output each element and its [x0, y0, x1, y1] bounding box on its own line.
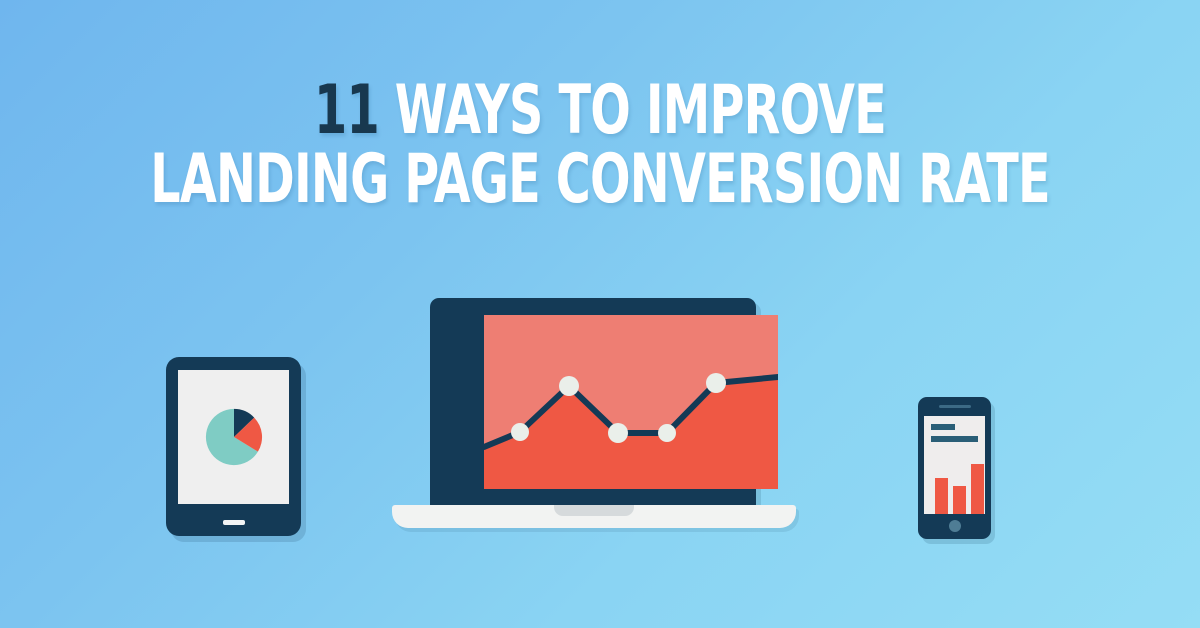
phone-speaker-icon [939, 405, 971, 408]
laptop-device [392, 298, 796, 530]
tablet-screen [178, 370, 289, 504]
data-point-marker [511, 423, 529, 441]
phone-screen [924, 416, 985, 514]
smartphone-device [918, 397, 991, 539]
laptop-screen [484, 315, 778, 489]
data-point-marker [559, 376, 579, 396]
tablet-device [166, 357, 301, 536]
area-chart [484, 315, 778, 489]
phone-text-line-1 [931, 424, 955, 430]
laptop-trackpad-notch [554, 505, 634, 516]
headline-line-1-text: WAYS TO IMPROVE [395, 71, 886, 150]
headline-number: 11 [314, 71, 379, 150]
page-title: 11 WAYS TO IMPROVE LANDING PAGE CONVERSI… [0, 78, 1200, 213]
tablet-home-indicator [223, 520, 245, 525]
headline-line-2: LANDING PAGE CONVERSION RATE [132, 147, 1068, 214]
data-point-marker [658, 424, 676, 442]
bar-1 [935, 478, 948, 514]
bar-2 [953, 486, 966, 514]
bar-3 [971, 464, 984, 514]
phone-home-button [949, 520, 961, 532]
data-point-marker [608, 423, 628, 443]
poster-canvas: 11 WAYS TO IMPROVE LANDING PAGE CONVERSI… [0, 0, 1200, 628]
data-point-marker [706, 373, 726, 393]
phone-text-line-2 [931, 436, 978, 442]
pie-chart [195, 398, 273, 476]
headline-line-1: 11 WAYS TO IMPROVE [132, 78, 1068, 145]
laptop-lid [430, 298, 756, 509]
